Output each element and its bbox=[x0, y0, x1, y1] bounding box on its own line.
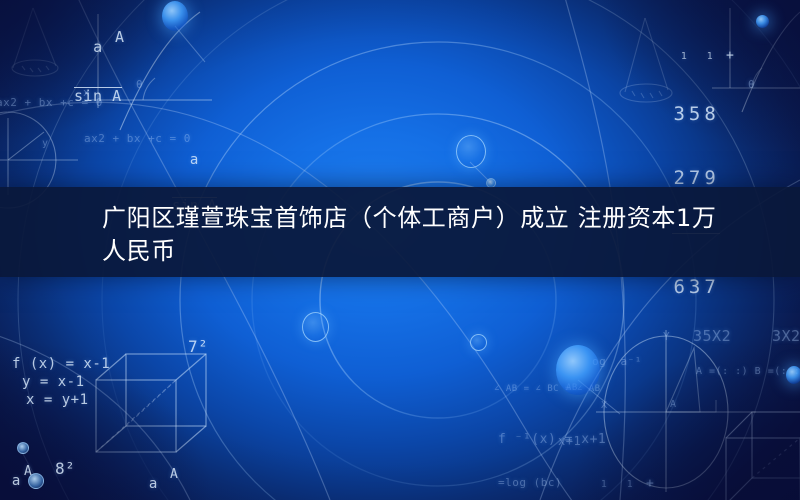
headline-band: 广阳区瑾萱珠宝首饰店（个体工商户）成立 注册资本1万人民币 bbox=[0, 187, 800, 277]
headline-title: 广阳区瑾萱珠宝首饰店（个体工商户）成立 注册资本1万人民币 bbox=[102, 202, 740, 268]
banner-canvas: a sin A A ax2 + bx +c = 0 ax2 + bx +c = … bbox=[0, 0, 800, 500]
